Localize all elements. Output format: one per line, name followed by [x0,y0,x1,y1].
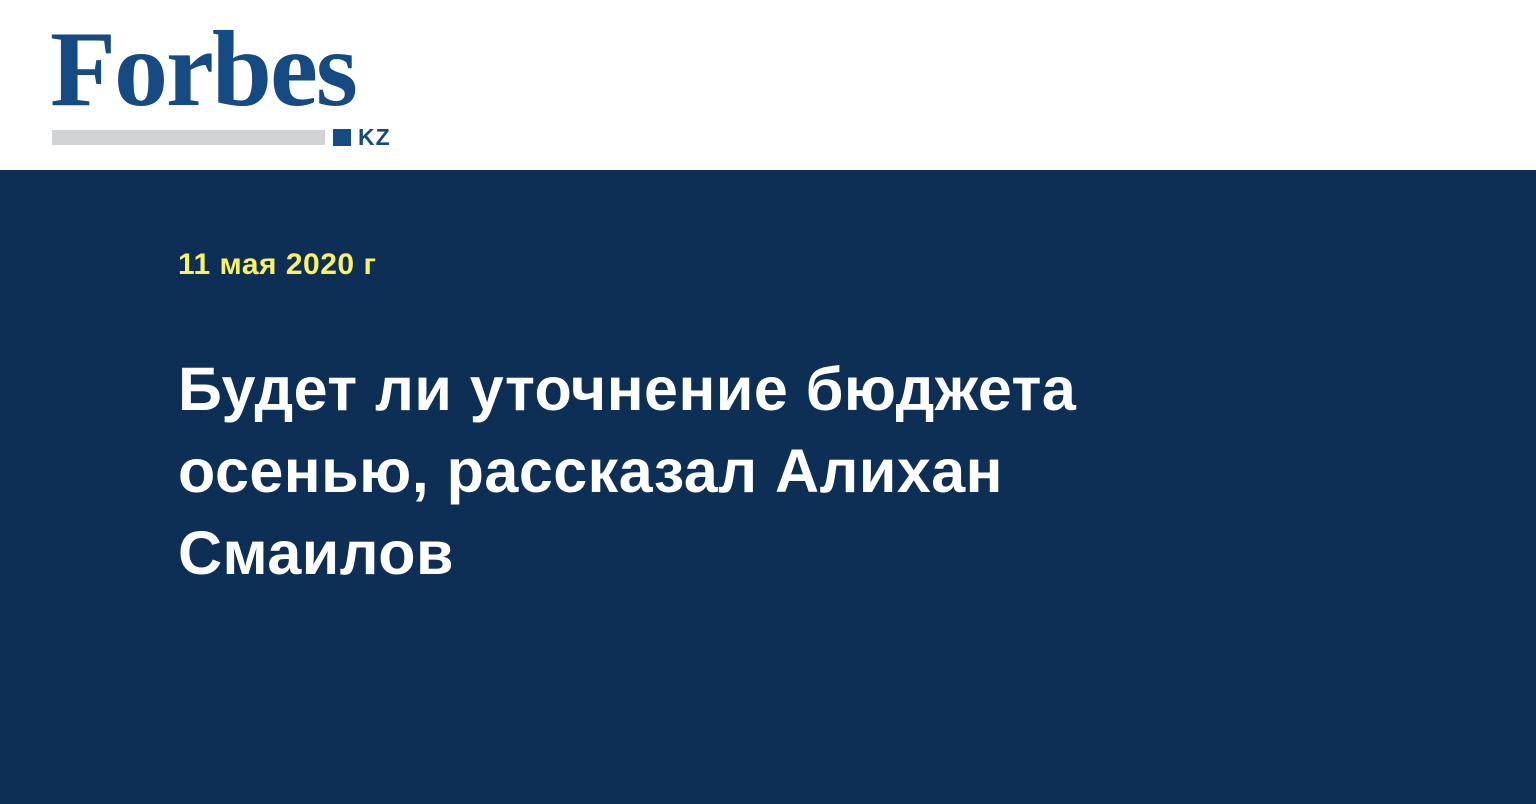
logo-suffix-kz: KZ [358,126,391,149]
navy-square-icon [333,129,351,146]
article-publish-date: 11 мая 2020 г [178,248,1456,282]
logo-wordmark: Forbes [50,22,410,118]
logo-baseline-group: KZ [52,126,408,148]
gray-rule-icon [52,130,325,145]
article-content: 11 мая 2020 г Будет ли уточнение бюджета… [178,248,1456,594]
article-card-page: Forbes KZ 11 мая 2020 г Будет ли уточнен… [0,0,1536,804]
site-masthead: Forbes KZ [0,0,1536,170]
forbes-kz-logo[interactable]: Forbes KZ [50,22,410,148]
article-headline: Будет ли уточнение бюджета осенью, расск… [178,348,1208,594]
article-hero-panel: 11 мая 2020 г Будет ли уточнение бюджета… [0,170,1536,804]
